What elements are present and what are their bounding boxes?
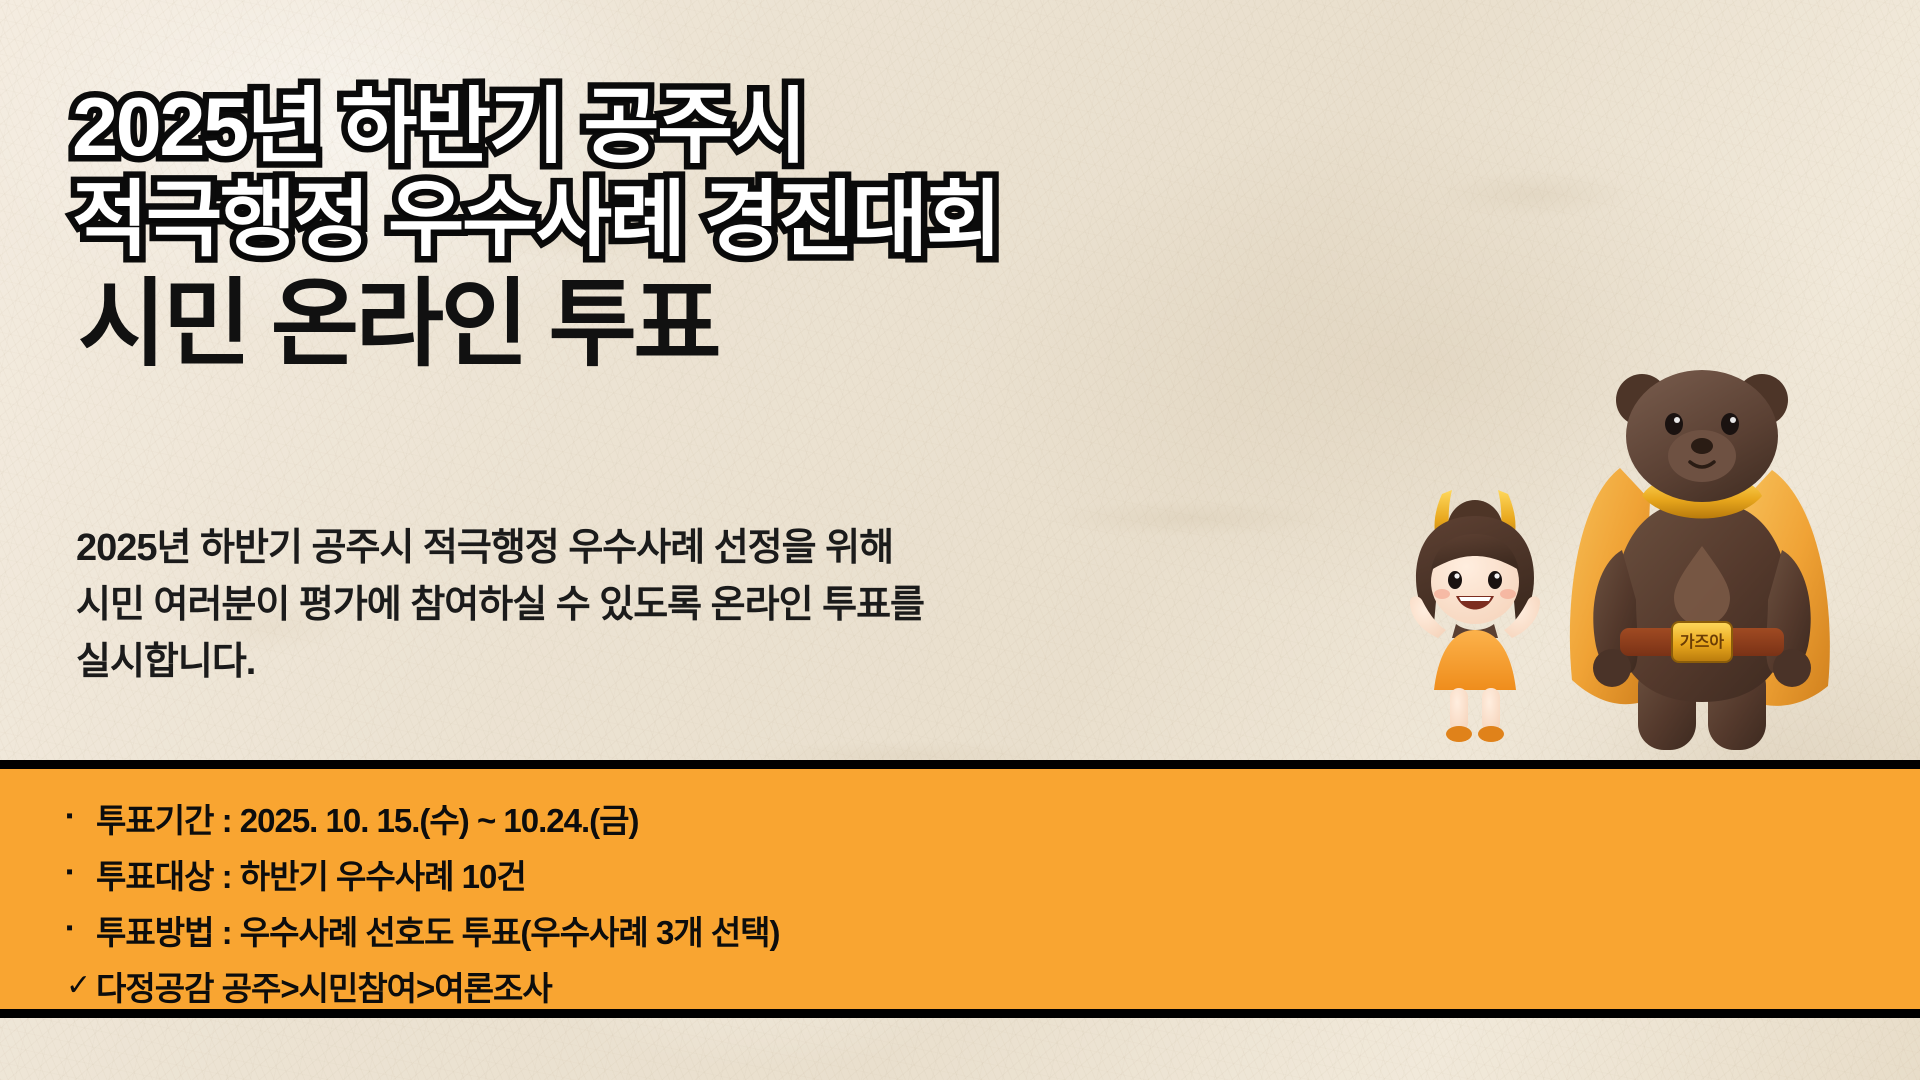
intro-paragraph-line-3: 실시합니다.	[76, 634, 924, 691]
info-item-1-text: 투표대상 : 하반기 우수사례 10건	[96, 850, 526, 898]
info-box: ▪ 투표기간 : 2025. 10. 15.(수) ~ 10.24.(금) ▪ …	[0, 760, 1920, 1018]
square-bullet-icon: ▪	[66, 806, 96, 826]
info-item-2: ▪ 투표방법 : 우수사례 선호도 투표(우수사례 3개 선택)	[66, 905, 1920, 955]
intro-paragraph: 2025년 하반기 공주시 적극행정 우수사례 선정을 위해 시민 여러분이 평…	[76, 520, 924, 691]
headline-block: 2025년 하반기 공주시 적극행정 우수사례 경진대회 시민 온라인 투표	[72, 86, 999, 373]
square-bullet-icon: ▪	[66, 918, 96, 938]
girl-mascot	[1410, 490, 1540, 742]
info-item-2-text: 투표방법 : 우수사례 선호도 투표(우수사례 3개 선택)	[96, 906, 780, 954]
square-bullet-icon: ▪	[66, 862, 96, 882]
intro-paragraph-line-1: 2025년 하반기 공주시 적극행정 우수사례 선정을 위해	[76, 520, 924, 577]
info-item-0-text: 투표기간 : 2025. 10. 15.(수) ~ 10.24.(금)	[96, 794, 638, 842]
info-item-1: ▪ 투표대상 : 하반기 우수사례 10건	[66, 849, 1920, 899]
info-item-3: ✓ 다정공감 공주>시민참여>여론조사	[66, 961, 1920, 1011]
intro-paragraph-line-2: 시민 여러분이 평가에 참여하실 수 있도록 온라인 투표를	[76, 577, 924, 634]
headline-line-3: 시민 온라인 투표	[78, 277, 999, 373]
check-bullet-icon: ✓	[66, 971, 96, 1001]
info-item-0: ▪ 투표기간 : 2025. 10. 15.(수) ~ 10.24.(금)	[66, 793, 1920, 843]
headline-line-1: 2025년 하반기 공주시	[72, 86, 999, 169]
bear-belt-text: 가즈아	[1680, 633, 1724, 651]
info-item-3-text: 다정공감 공주>시민참여>여론조사	[96, 962, 552, 1010]
mascot-illustration: 가즈아	[1320, 350, 1920, 780]
bear-mascot: 가즈아	[1570, 370, 1830, 750]
poster-canvas: 2025년 하반기 공주시 적극행정 우수사례 경진대회 시민 온라인 투표 2…	[0, 0, 1920, 1080]
headline-line-2: 적극행정 우수사례 경진대회	[72, 179, 999, 262]
